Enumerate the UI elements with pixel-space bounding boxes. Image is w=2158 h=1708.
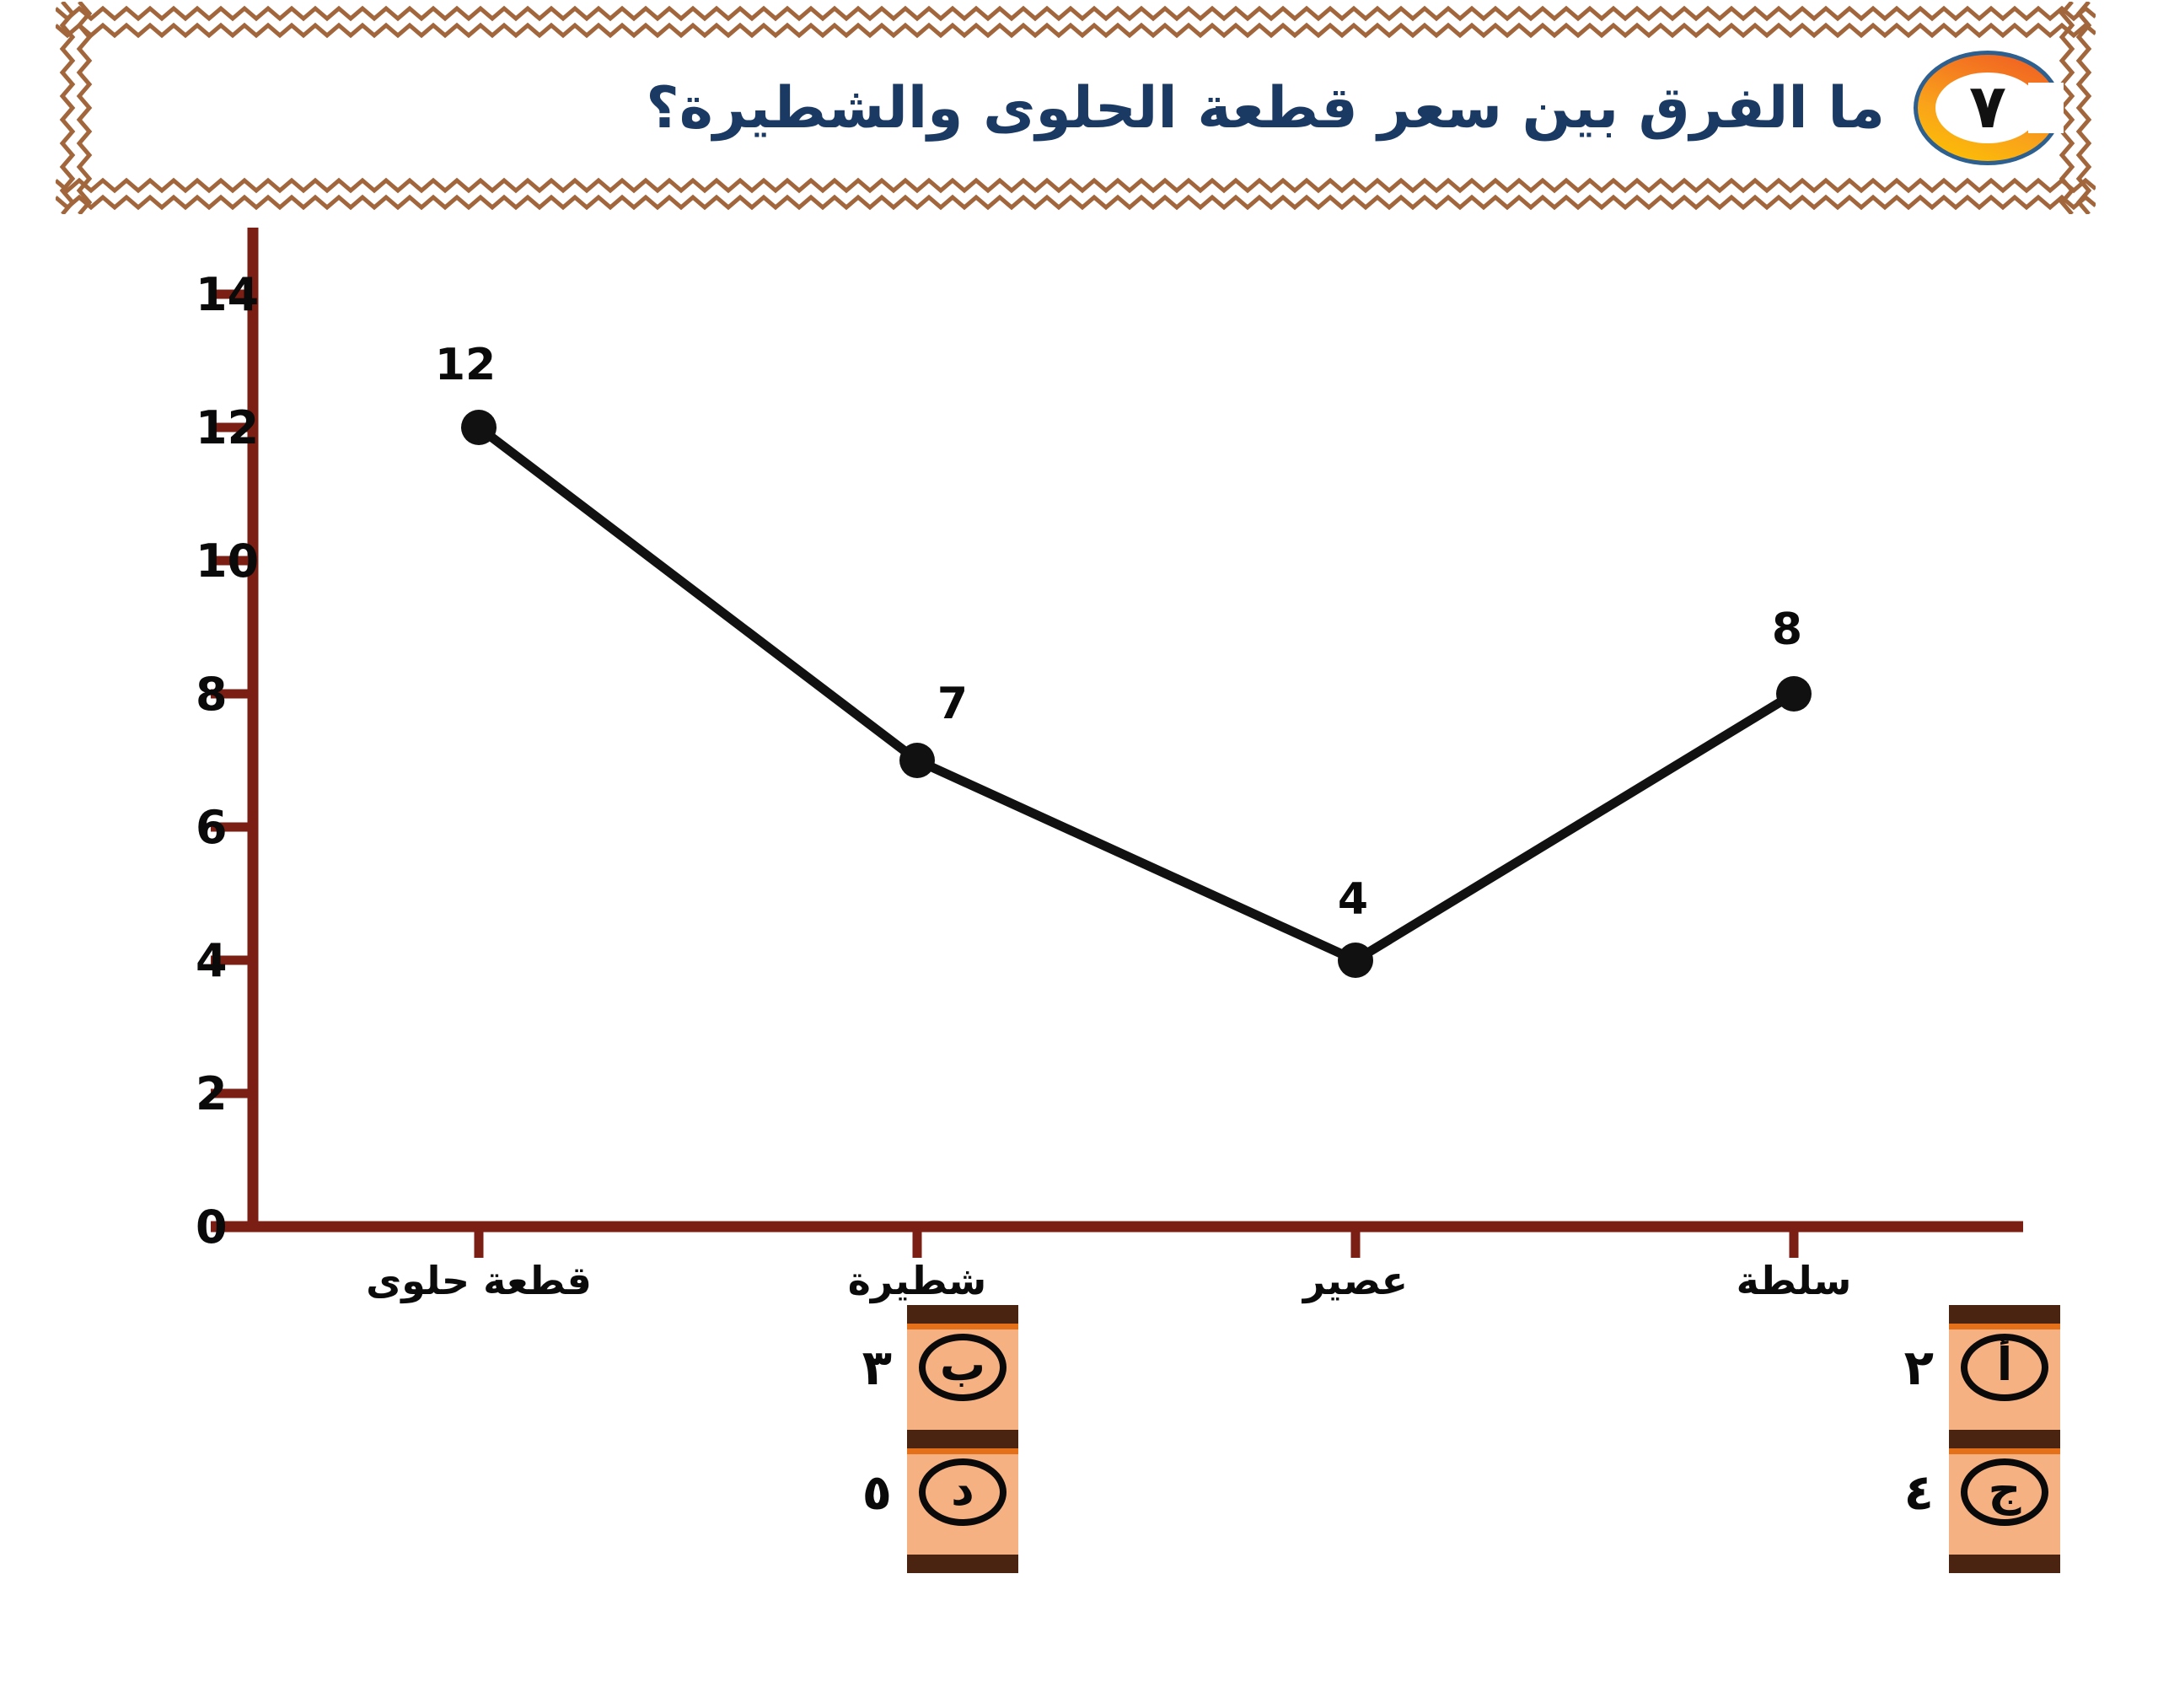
data-point-2 <box>1338 943 1373 978</box>
option-c-bottom-bar <box>1949 1555 2060 1573</box>
option-a-letter-circle: أ <box>1961 1334 2048 1401</box>
x-axis-label-3: سلطة <box>1737 1258 1852 1303</box>
option-b-top-stripe <box>907 1324 1018 1329</box>
option-a-letter: أ <box>1997 1342 2013 1388</box>
banner-content: ٧ ما الفرق بين سعر قطعة الحلوى والشطيرة؟ <box>84 30 2067 185</box>
svg-text:2: 2 <box>196 1067 228 1120</box>
x-axis-label-1: شطيرة <box>848 1258 987 1303</box>
data-label-2: 4 <box>1338 874 1368 925</box>
option-d-top-bar <box>907 1430 1018 1448</box>
x-axis-label-0: قطعة حلوى <box>366 1258 592 1303</box>
question-number: ٧ <box>1914 51 2062 165</box>
option-c-top-stripe <box>1949 1448 2060 1454</box>
option-d-top-stripe <box>907 1448 1018 1454</box>
option-b-letter: ب <box>940 1342 985 1388</box>
svg-text:10: 10 <box>196 534 259 588</box>
data-label-0: 12 <box>435 340 496 390</box>
option-d-value: ٥ <box>862 1464 892 1521</box>
x-axis-label-2: عصير <box>1303 1258 1408 1303</box>
question-number-badge-icon: ٧ <box>1914 51 2062 165</box>
option-c-top-bar <box>1949 1430 2060 1448</box>
svg-text:4: 4 <box>196 934 228 987</box>
option-b-top-bar <box>907 1305 1018 1324</box>
line-chart: 0 2 4 6 8 10 12 14 12 7 4 <box>0 219 2158 1307</box>
data-label-1: 7 <box>937 679 968 729</box>
question-header-banner: ٧ ما الفرق بين سعر قطعة الحلوى والشطيرة؟ <box>56 2 2096 214</box>
option-b[interactable]: ب ٣ <box>907 1305 1018 1430</box>
svg-text:12: 12 <box>196 401 259 454</box>
chart-canvas: 0 2 4 6 8 10 12 14 12 7 4 <box>0 219 2158 1307</box>
option-c-letter: ج <box>1989 1467 2021 1512</box>
option-a[interactable]: أ ٢ <box>1949 1305 2060 1430</box>
option-a-top-bar <box>1949 1305 2060 1324</box>
question-text: ما الفرق بين سعر قطعة الحلوى والشطيرة؟ <box>84 75 1893 142</box>
data-point-labels: 12 7 4 8 <box>435 340 1802 925</box>
option-d[interactable]: د ٥ <box>907 1430 1018 1555</box>
svg-text:0: 0 <box>196 1200 228 1254</box>
option-c[interactable]: ج ٤ <box>1949 1430 2060 1555</box>
option-a-value: ٢ <box>1904 1339 1934 1396</box>
svg-text:14: 14 <box>196 268 259 321</box>
option-c-value: ٤ <box>1904 1464 1934 1521</box>
option-d-letter-circle: د <box>919 1458 1007 1526</box>
option-a-top-stripe <box>1949 1324 2060 1329</box>
data-point-1 <box>899 743 935 778</box>
option-d-bottom-bar <box>907 1555 1018 1573</box>
svg-text:6: 6 <box>196 801 228 854</box>
data-point-3 <box>1776 676 1812 712</box>
svg-text:8: 8 <box>196 668 228 721</box>
answer-options: أ ٢ ج ٤ ب ٣ <box>0 1305 2158 1708</box>
data-point-markers <box>461 410 1812 978</box>
data-line-series <box>479 427 1794 960</box>
data-label-3: 8 <box>1772 604 1802 655</box>
option-b-letter-circle: ب <box>919 1334 1007 1401</box>
option-c-letter-circle: ج <box>1961 1458 2048 1526</box>
option-b-value: ٣ <box>862 1339 892 1396</box>
option-d-letter: د <box>951 1467 974 1512</box>
data-point-0 <box>461 410 497 445</box>
